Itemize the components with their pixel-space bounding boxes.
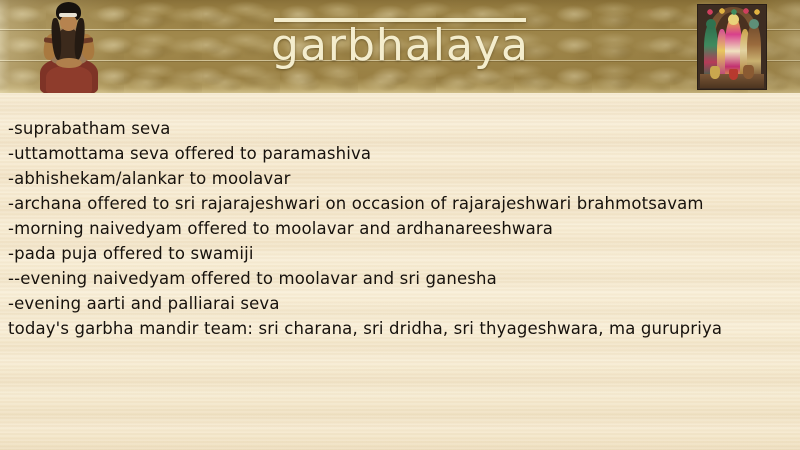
list-item: -uttamottama seva offered to paramashiva bbox=[8, 141, 794, 166]
list-item: -pada puja offered to swamiji bbox=[8, 241, 794, 266]
list-item: -suprabatham seva bbox=[8, 116, 794, 141]
team-credit-line: today's garbha mandir team: sri charana,… bbox=[8, 316, 794, 341]
list-item: -archana offered to sri rajarajeshwari o… bbox=[8, 191, 794, 216]
slide-canvas: garbhalaya bbox=[0, 0, 800, 450]
list-item: --evening naivedyam offered to moolavar … bbox=[8, 266, 794, 291]
page-title-text: garbhalaya bbox=[271, 14, 529, 72]
header-banner: garbhalaya bbox=[0, 0, 800, 93]
list-item: -morning naivedyam offered to moolavar a… bbox=[8, 216, 794, 241]
list-item: -evening aarti and palliarai seva bbox=[8, 291, 794, 316]
list-item: -abhishekam/alankar to moolavar bbox=[8, 166, 794, 191]
page-title: garbhalaya bbox=[0, 14, 800, 72]
seva-list: -suprabatham seva -uttamottama seva offe… bbox=[8, 116, 794, 341]
